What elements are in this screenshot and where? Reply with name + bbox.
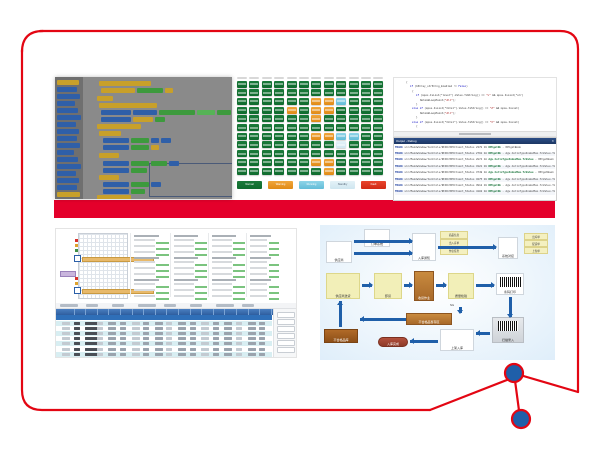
table-cell[interactable] xyxy=(120,322,126,325)
table-cell[interactable] xyxy=(236,327,242,330)
code-block[interactable] xyxy=(217,110,231,115)
table-cell[interactable] xyxy=(190,348,196,351)
status-cell[interactable] xyxy=(361,133,371,140)
code-block[interactable] xyxy=(99,175,119,180)
status-cell[interactable] xyxy=(287,159,297,166)
table-cell[interactable] xyxy=(97,337,103,340)
code-block[interactable] xyxy=(131,189,145,194)
table-cell[interactable] xyxy=(74,322,80,325)
status-cell[interactable] xyxy=(311,124,321,131)
table-cell[interactable] xyxy=(143,348,149,351)
status-cell[interactable] xyxy=(373,81,383,88)
log-row[interactable]: TRACE src/MainWindow/Controls/RFID/OPCCl… xyxy=(395,152,555,157)
table-cell[interactable] xyxy=(62,342,70,345)
status-cell[interactable] xyxy=(299,141,309,148)
status-cell[interactable] xyxy=(237,89,247,96)
status-cell[interactable] xyxy=(237,98,247,105)
status-cell[interactable] xyxy=(336,81,346,88)
status-cell[interactable] xyxy=(324,107,334,114)
log-row[interactable]: TRACE src/MainWindow/Controls/RFID/OPCCl… xyxy=(395,171,555,176)
table-side-buttons[interactable] xyxy=(273,309,296,357)
status-cell[interactable] xyxy=(237,168,247,175)
status-cell[interactable] xyxy=(249,89,259,96)
status-cell[interactable] xyxy=(361,150,371,157)
status-cell[interactable] xyxy=(274,133,284,140)
status-cell[interactable] xyxy=(324,159,334,166)
status-cell[interactable] xyxy=(336,168,346,175)
status-grid[interactable] xyxy=(237,77,385,175)
status-cell[interactable] xyxy=(311,133,321,140)
status-cell[interactable] xyxy=(262,150,272,157)
status-cell[interactable] xyxy=(262,107,272,114)
table-cell[interactable] xyxy=(259,327,265,330)
table-cell[interactable] xyxy=(190,353,196,356)
table-cell[interactable] xyxy=(236,332,242,335)
status-cell[interactable] xyxy=(373,115,383,122)
status-cell[interactable] xyxy=(336,107,346,114)
table-cell[interactable] xyxy=(132,353,140,356)
code-block[interactable] xyxy=(197,110,215,115)
status-cell[interactable] xyxy=(324,133,334,140)
palette-block[interactable] xyxy=(57,108,78,113)
status-cell[interactable] xyxy=(349,150,359,157)
table-cell[interactable] xyxy=(132,322,140,325)
gantt-marker[interactable] xyxy=(75,249,78,252)
table-cell[interactable] xyxy=(178,337,186,340)
log-row[interactable]: TRACE src/MainWindow/Controls/RFID/OPCCl… xyxy=(395,190,555,195)
table-cell[interactable] xyxy=(120,342,126,345)
table-cell[interactable] xyxy=(259,322,265,325)
table-cell[interactable] xyxy=(224,337,232,340)
table-cell[interactable] xyxy=(166,353,172,356)
code-block[interactable] xyxy=(101,88,135,93)
status-cell[interactable] xyxy=(287,150,297,157)
table-cell[interactable] xyxy=(201,353,209,356)
status-cell[interactable] xyxy=(237,141,247,148)
status-cell[interactable] xyxy=(361,98,371,105)
status-cell[interactable] xyxy=(262,159,272,166)
status-cell[interactable] xyxy=(324,115,334,122)
palette-block[interactable] xyxy=(57,129,79,134)
table-cell[interactable] xyxy=(62,322,70,325)
table-cell[interactable] xyxy=(155,327,163,330)
table-cell[interactable] xyxy=(120,348,126,351)
table-cell[interactable] xyxy=(178,332,186,335)
code-block[interactable] xyxy=(133,110,157,115)
status-cell[interactable] xyxy=(274,124,284,131)
code-block[interactable] xyxy=(151,161,167,166)
status-cell[interactable] xyxy=(349,81,359,88)
status-cell[interactable] xyxy=(274,159,284,166)
table-cell[interactable] xyxy=(155,342,163,345)
code-block[interactable] xyxy=(97,195,131,199)
palette-block[interactable] xyxy=(57,171,76,176)
palette-block[interactable] xyxy=(57,115,81,120)
table-cell[interactable] xyxy=(190,327,196,330)
status-cell[interactable] xyxy=(336,98,346,105)
gantt-node[interactable] xyxy=(74,287,81,294)
table-cell[interactable] xyxy=(201,342,209,345)
status-cell[interactable] xyxy=(249,168,259,175)
code-line[interactable]: { xyxy=(416,125,418,128)
status-cell[interactable] xyxy=(361,159,371,166)
table-cell[interactable] xyxy=(155,332,163,335)
status-cell[interactable] xyxy=(299,98,309,105)
status-cell[interactable] xyxy=(311,89,321,96)
status-cell[interactable] xyxy=(373,159,383,166)
code-block[interactable] xyxy=(131,182,149,187)
table-cell[interactable] xyxy=(108,337,116,340)
status-cell[interactable] xyxy=(311,141,321,148)
table-cell[interactable] xyxy=(201,322,209,325)
status-cell[interactable] xyxy=(373,150,383,157)
log-output-panel[interactable]: Output - Debug ✕ TRACE src/MainWindow/Co… xyxy=(393,137,557,201)
log-row[interactable]: TRACE src/MainWindow/Controls/RFID/OPCCl… xyxy=(395,146,555,151)
status-cell[interactable] xyxy=(262,141,272,148)
status-cell[interactable] xyxy=(311,150,321,157)
table-cell[interactable] xyxy=(62,337,70,340)
blocks-canvas[interactable] xyxy=(87,77,232,199)
status-cell[interactable] xyxy=(287,115,297,122)
table-cell[interactable] xyxy=(259,332,265,335)
table-cell[interactable] xyxy=(74,327,80,330)
code-line[interactable]: else if (mpos.IsList("Intel").Value.ToSt… xyxy=(412,121,519,124)
table-cell[interactable] xyxy=(155,348,163,351)
code-line[interactable]: NoteAdLoopPoint("All"); xyxy=(420,112,456,115)
code-block[interactable] xyxy=(133,117,153,122)
status-cell[interactable] xyxy=(274,141,284,148)
gantt-node[interactable] xyxy=(74,255,81,262)
table-cell[interactable] xyxy=(97,322,103,325)
status-cell[interactable] xyxy=(373,124,383,131)
table-cell[interactable] xyxy=(143,332,149,335)
status-cell[interactable] xyxy=(324,141,334,148)
status-cell[interactable] xyxy=(287,168,297,175)
status-cell[interactable] xyxy=(299,89,309,96)
table-cell[interactable] xyxy=(97,353,103,356)
table-cell[interactable] xyxy=(62,353,70,356)
code-line[interactable]: if (mpos.IsList("level").Value.ToString(… xyxy=(416,94,523,97)
status-cell[interactable] xyxy=(336,159,346,166)
table-cell[interactable] xyxy=(213,337,219,340)
table-cell[interactable] xyxy=(74,348,80,351)
status-cell[interactable] xyxy=(262,133,272,140)
table-selected-row[interactable] xyxy=(56,315,272,320)
status-cell[interactable] xyxy=(274,150,284,157)
table-cell[interactable] xyxy=(213,342,219,345)
status-cell[interactable] xyxy=(299,159,309,166)
table-cell[interactable] xyxy=(190,342,196,345)
palette-block[interactable] xyxy=(57,122,76,127)
status-cell[interactable] xyxy=(287,98,297,105)
table-cell[interactable] xyxy=(178,342,186,345)
status-cell[interactable] xyxy=(287,89,297,96)
gantt-marker[interactable] xyxy=(75,244,78,247)
table-cell[interactable] xyxy=(178,327,186,330)
status-cell[interactable] xyxy=(249,150,259,157)
code-block[interactable] xyxy=(161,138,171,143)
status-cell[interactable] xyxy=(249,124,259,131)
table-side-button[interactable] xyxy=(277,347,295,353)
gantt-chart[interactable] xyxy=(56,229,296,301)
code-block[interactable] xyxy=(159,110,195,115)
gantt-marker[interactable] xyxy=(75,282,78,285)
table-cell[interactable] xyxy=(132,337,140,340)
table-cell[interactable] xyxy=(166,332,172,335)
palette-block[interactable] xyxy=(57,150,74,155)
status-cell[interactable] xyxy=(237,133,247,140)
table-cell[interactable] xyxy=(236,337,242,340)
status-cell[interactable] xyxy=(262,81,272,88)
status-cell[interactable] xyxy=(262,89,272,96)
status-cell[interactable] xyxy=(336,141,346,148)
status-cell[interactable] xyxy=(249,141,259,148)
table-cell[interactable] xyxy=(178,353,186,356)
status-cell[interactable] xyxy=(274,89,284,96)
code-block[interactable] xyxy=(103,189,129,194)
table-cell[interactable] xyxy=(236,322,242,325)
code-line[interactable]: { xyxy=(412,90,414,93)
status-cell[interactable] xyxy=(349,133,359,140)
table-cell[interactable] xyxy=(213,327,219,330)
code-block[interactable] xyxy=(99,81,151,86)
status-cell[interactable] xyxy=(299,81,309,88)
table-cell[interactable] xyxy=(236,348,242,351)
log-row[interactable]: TRACE src/MainWindow/Controls/RFID/OPCCl… xyxy=(395,158,555,163)
table-cell[interactable] xyxy=(248,327,256,330)
status-cell[interactable] xyxy=(287,81,297,88)
table-cell[interactable] xyxy=(97,327,103,330)
status-cell[interactable] xyxy=(336,150,346,157)
table-cell[interactable] xyxy=(155,337,163,340)
table-cell[interactable] xyxy=(132,342,140,345)
table-side-button[interactable] xyxy=(277,319,295,325)
status-cell[interactable] xyxy=(361,89,371,96)
status-cell[interactable] xyxy=(237,115,247,122)
table-cell[interactable] xyxy=(132,332,140,335)
code-line[interactable]: NoteAdLoopPoint("All"); xyxy=(420,99,456,102)
status-cell[interactable] xyxy=(349,89,359,96)
table-cell[interactable] xyxy=(190,332,196,335)
table-cell[interactable] xyxy=(248,348,256,351)
table-cell[interactable] xyxy=(224,327,232,330)
table-cell[interactable] xyxy=(108,353,116,356)
blocks-editor-panel[interactable] xyxy=(55,77,232,199)
log-row[interactable]: TRACE src/MainWindow/Controls/RFID/OPCCl… xyxy=(395,184,555,189)
palette-block[interactable] xyxy=(57,164,81,169)
table-cell[interactable] xyxy=(259,337,265,340)
table-cell[interactable] xyxy=(236,353,242,356)
status-cell[interactable] xyxy=(373,141,383,148)
status-cell[interactable] xyxy=(311,107,321,114)
table-cell[interactable] xyxy=(166,322,172,325)
table-cell[interactable] xyxy=(213,353,219,356)
code-block[interactable] xyxy=(103,168,129,173)
status-cell[interactable] xyxy=(336,133,346,140)
palette-block[interactable] xyxy=(57,136,77,141)
status-cell[interactable] xyxy=(262,115,272,122)
table-cell[interactable] xyxy=(190,322,196,325)
code-block[interactable] xyxy=(103,161,129,166)
table-cell[interactable] xyxy=(132,327,140,330)
table-side-button[interactable] xyxy=(277,312,295,318)
status-cell[interactable] xyxy=(287,141,297,148)
code-block[interactable] xyxy=(169,161,179,166)
status-cell[interactable] xyxy=(373,133,383,140)
code-block[interactable] xyxy=(97,124,141,129)
table-cell[interactable] xyxy=(143,342,149,345)
status-cell[interactable] xyxy=(373,89,383,96)
gantt-marker[interactable] xyxy=(75,277,78,280)
table-cell[interactable] xyxy=(108,348,116,351)
status-cell[interactable] xyxy=(349,168,359,175)
status-cell[interactable] xyxy=(274,107,284,114)
table-cell[interactable] xyxy=(166,348,172,351)
table-cell[interactable] xyxy=(143,322,149,325)
status-cell[interactable] xyxy=(324,150,334,157)
table-row[interactable] xyxy=(56,352,272,357)
table-side-button[interactable] xyxy=(277,333,295,339)
status-cell[interactable] xyxy=(249,98,259,105)
palette-block[interactable] xyxy=(57,101,75,106)
table-cell[interactable] xyxy=(120,332,126,335)
status-cell[interactable] xyxy=(274,168,284,175)
status-cell[interactable] xyxy=(299,168,309,175)
table-cell[interactable] xyxy=(120,337,126,340)
log-row[interactable]: TRACE src/MainWindow/Controls/RFID/OPCCl… xyxy=(395,165,555,170)
code-block[interactable] xyxy=(151,145,159,150)
table-cell[interactable] xyxy=(74,337,80,340)
table-cell[interactable] xyxy=(97,348,103,351)
status-cell[interactable] xyxy=(324,124,334,131)
status-cell[interactable] xyxy=(373,98,383,105)
table-cell[interactable] xyxy=(213,348,219,351)
palette-block[interactable] xyxy=(57,94,80,99)
code-horizontal-scrollbar[interactable] xyxy=(394,131,556,136)
status-cell[interactable] xyxy=(373,107,383,114)
table-cell[interactable] xyxy=(132,348,140,351)
code-block[interactable] xyxy=(103,145,129,150)
status-cell[interactable] xyxy=(287,133,297,140)
table-cell[interactable] xyxy=(155,353,163,356)
table-cell[interactable] xyxy=(248,322,256,325)
status-cell[interactable] xyxy=(262,124,272,131)
status-cell[interactable] xyxy=(237,159,247,166)
table-cell[interactable] xyxy=(143,353,149,356)
status-cell[interactable] xyxy=(361,168,371,175)
status-cell[interactable] xyxy=(349,98,359,105)
code-block[interactable] xyxy=(99,131,121,136)
status-cell[interactable] xyxy=(249,159,259,166)
gantt-marker[interactable] xyxy=(75,239,78,242)
status-cell[interactable] xyxy=(249,133,259,140)
table-cell[interactable] xyxy=(143,337,149,340)
code-block[interactable] xyxy=(131,145,149,150)
table-cell[interactable] xyxy=(166,342,172,345)
table-cell[interactable] xyxy=(224,322,232,325)
table-cell[interactable] xyxy=(259,342,265,345)
table-side-button[interactable] xyxy=(277,340,295,346)
status-cell[interactable] xyxy=(299,107,309,114)
table-cell[interactable] xyxy=(259,353,265,356)
code-block[interactable] xyxy=(101,117,131,122)
status-cell[interactable] xyxy=(349,141,359,148)
status-cell[interactable] xyxy=(311,168,321,175)
status-cell[interactable] xyxy=(361,107,371,114)
status-cell[interactable] xyxy=(336,89,346,96)
status-cell[interactable] xyxy=(311,159,321,166)
table-cell[interactable] xyxy=(259,348,265,351)
table-cell[interactable] xyxy=(108,332,116,335)
status-cell[interactable] xyxy=(361,115,371,122)
table-cell[interactable] xyxy=(213,332,219,335)
table-cell[interactable] xyxy=(74,332,80,335)
code-block[interactable] xyxy=(151,182,161,187)
log-row[interactable]: TRACE src/MainWindow/Controls/RFID/OPCCl… xyxy=(395,178,555,183)
table-cell[interactable] xyxy=(236,342,242,345)
table-cell[interactable] xyxy=(74,342,80,345)
code-line[interactable]: if (bStray_strStrng_Enabled != false) xyxy=(410,85,468,88)
blocks-palette[interactable] xyxy=(55,77,83,199)
status-cell[interactable] xyxy=(299,133,309,140)
code-block[interactable] xyxy=(103,138,129,143)
code-line[interactable]: } xyxy=(416,116,418,119)
table-cell[interactable] xyxy=(166,337,172,340)
code-line[interactable]: else if (mpos.IsList("Intel").Value.ToSt… xyxy=(412,107,519,110)
status-cell[interactable] xyxy=(299,115,309,122)
table-cell[interactable] xyxy=(62,327,70,330)
table-cell[interactable] xyxy=(120,327,126,330)
code-line[interactable]: } xyxy=(416,103,418,106)
table-cell[interactable] xyxy=(248,353,256,356)
status-cell[interactable] xyxy=(237,124,247,131)
palette-block[interactable] xyxy=(57,80,79,85)
code-line[interactable]: { xyxy=(406,81,408,84)
palette-block[interactable] xyxy=(57,185,77,190)
table-cell[interactable] xyxy=(97,332,103,335)
schedule-sheet-panel[interactable] xyxy=(55,228,297,358)
status-cell[interactable] xyxy=(324,168,334,175)
code-block[interactable] xyxy=(99,153,119,158)
table-cell[interactable] xyxy=(120,353,126,356)
status-cell[interactable] xyxy=(299,150,309,157)
status-cell[interactable] xyxy=(324,98,334,105)
status-cell[interactable] xyxy=(274,98,284,105)
table-cell[interactable] xyxy=(224,332,232,335)
table-cell[interactable] xyxy=(224,342,232,345)
status-cell[interactable] xyxy=(274,115,284,122)
table-cell[interactable] xyxy=(224,353,232,356)
status-cell[interactable] xyxy=(324,89,334,96)
status-cell[interactable] xyxy=(336,115,346,122)
code-block[interactable] xyxy=(137,88,163,93)
code-block[interactable] xyxy=(131,161,149,166)
table-cell[interactable] xyxy=(201,337,209,340)
table-cell[interactable] xyxy=(248,332,256,335)
table-cell[interactable] xyxy=(201,327,209,330)
status-cell[interactable] xyxy=(262,168,272,175)
status-cell[interactable] xyxy=(299,124,309,131)
table-cell[interactable] xyxy=(178,348,186,351)
code-block[interactable] xyxy=(165,88,173,93)
status-cell[interactable] xyxy=(349,115,359,122)
status-cell[interactable] xyxy=(237,107,247,114)
status-cell[interactable] xyxy=(311,81,321,88)
palette-block[interactable] xyxy=(57,192,80,197)
status-cell[interactable] xyxy=(237,150,247,157)
table-cell[interactable] xyxy=(97,342,103,345)
status-cell[interactable] xyxy=(311,115,321,122)
